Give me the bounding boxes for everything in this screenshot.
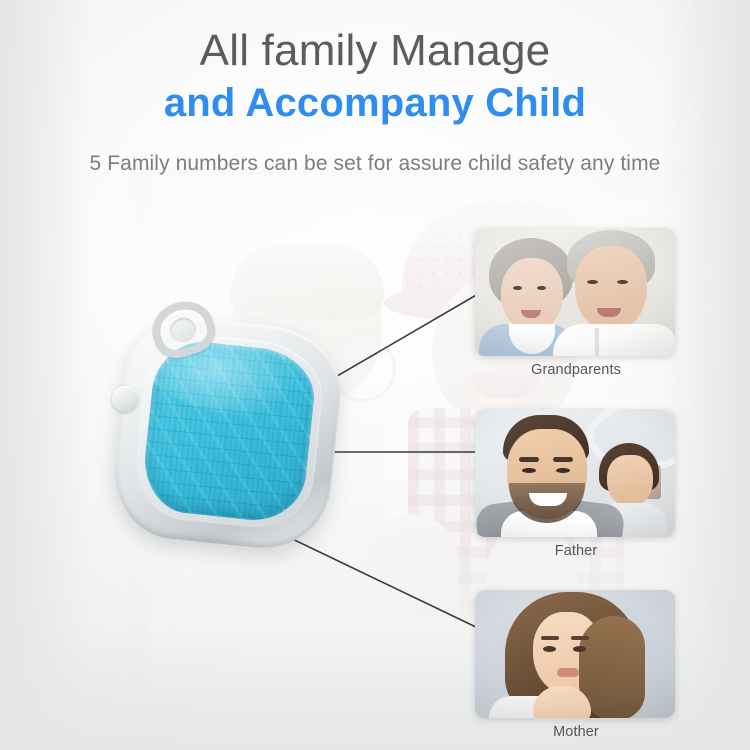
grandmother-eye-left (513, 286, 522, 290)
grandparents-photo (475, 228, 675, 356)
child-gps-tracker-device (108, 300, 348, 572)
grandfather-shirt-placket (595, 328, 599, 356)
device-face-panel (140, 337, 319, 525)
child-face (607, 455, 653, 507)
family-card-mother[interactable]: Mother (475, 590, 677, 740)
family-card-list: Grandparents (475, 228, 677, 740)
father-eye-left (522, 468, 536, 473)
family-card-label-grandparents: Grandparents (475, 362, 677, 378)
father-photo (475, 409, 675, 537)
page-title: All family Manage (0, 26, 750, 75)
father-eyebrow-right (553, 457, 573, 462)
family-card-label-father: Father (475, 543, 677, 559)
family-card-grandparents[interactable]: Grandparents (475, 228, 677, 378)
heading-block: All family Manage and Accompany Child 5 … (0, 0, 750, 176)
grandfather-eye-left (587, 280, 598, 284)
grandfather-face (575, 246, 647, 332)
page-title-accent: and Accompany Child (0, 81, 750, 126)
grandfather-polo-shirt (553, 324, 675, 356)
father-eye-right (556, 468, 570, 473)
device-side-button[interactable] (112, 386, 138, 412)
device-body (107, 311, 347, 555)
grandmother-eye-right (537, 286, 546, 290)
grandmother-face (501, 258, 563, 332)
mother-eye-right (573, 646, 586, 652)
mother-eyebrow-right (571, 636, 589, 640)
family-card-label-mother: Mother (475, 724, 677, 740)
promo-banner: All family Manage and Accompany Child 5 … (0, 0, 750, 750)
mother-photo (475, 590, 675, 718)
mother-eyebrow-left (541, 636, 559, 640)
father-eyebrow-left (519, 457, 539, 462)
page-subtitle: 5 Family numbers can be set for assure c… (0, 152, 750, 176)
family-card-father[interactable]: Father (475, 409, 677, 559)
device-bezel (131, 329, 327, 533)
grandfather-eye-right (617, 280, 628, 284)
mother-eye-left (543, 646, 556, 652)
mother-lips (557, 668, 579, 677)
